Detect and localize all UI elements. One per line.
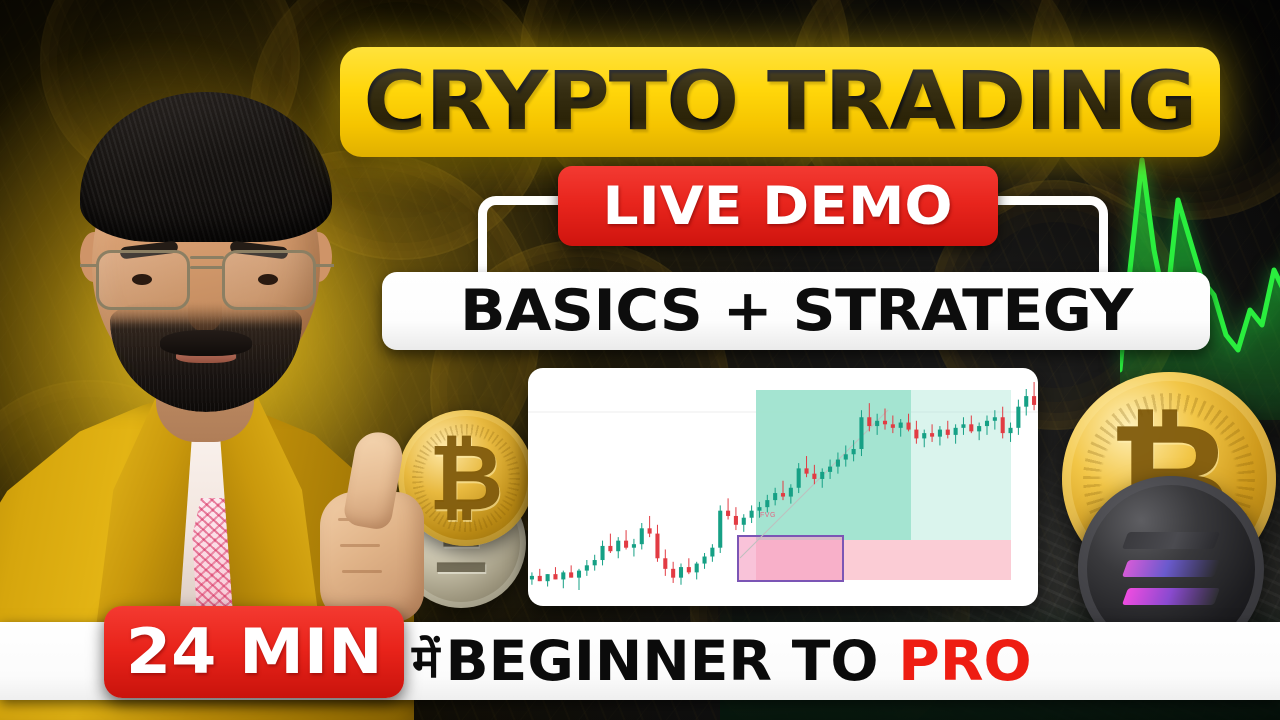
trading-chart-panel	[528, 368, 1038, 606]
presenter-eye-left	[132, 274, 152, 285]
main-title-text: CRYPTO TRADING	[364, 62, 1197, 143]
glasses-bridge	[190, 266, 224, 269]
live-demo-badge: LIVE DEMO	[558, 166, 998, 246]
bottom-headline-main: BEGINNER TO	[445, 629, 898, 693]
hindi-connector-word: में	[412, 638, 440, 684]
fvg-box	[738, 536, 843, 581]
candlestick-chart	[528, 368, 1038, 606]
fvg-label: FVG	[760, 512, 776, 519]
presenter-eye-right	[258, 274, 278, 285]
solana-logo-icon	[1125, 532, 1217, 606]
bottom-headline-accent: PRO	[898, 629, 1031, 693]
glasses-temple-left	[80, 264, 98, 267]
subtitle-banner: BASICS + STRATEGY	[382, 272, 1210, 350]
presenter-moustache	[160, 330, 252, 356]
glasses-brow-bar	[190, 256, 224, 259]
live-demo-label: LIVE DEMO	[603, 180, 953, 233]
presenter-glasses	[88, 248, 326, 314]
thumbs-up-hand	[310, 432, 428, 632]
subtitle-text: BASICS + STRATEGY	[460, 283, 1133, 340]
thumbnail-canvas: Ξ ₿	[0, 0, 1280, 720]
main-title-banner: CRYPTO TRADING	[340, 47, 1220, 157]
duration-badge: 24 MIN	[104, 606, 404, 698]
bottom-headline: BEGINNER TO PRO	[445, 634, 1031, 689]
bottom-banner-text: में BEGINNER TO PRO	[412, 622, 1023, 700]
glasses-temple-right	[316, 264, 334, 267]
duration-badge-label: 24 MIN	[126, 621, 383, 683]
take-profit-zone-extension	[911, 390, 1011, 540]
